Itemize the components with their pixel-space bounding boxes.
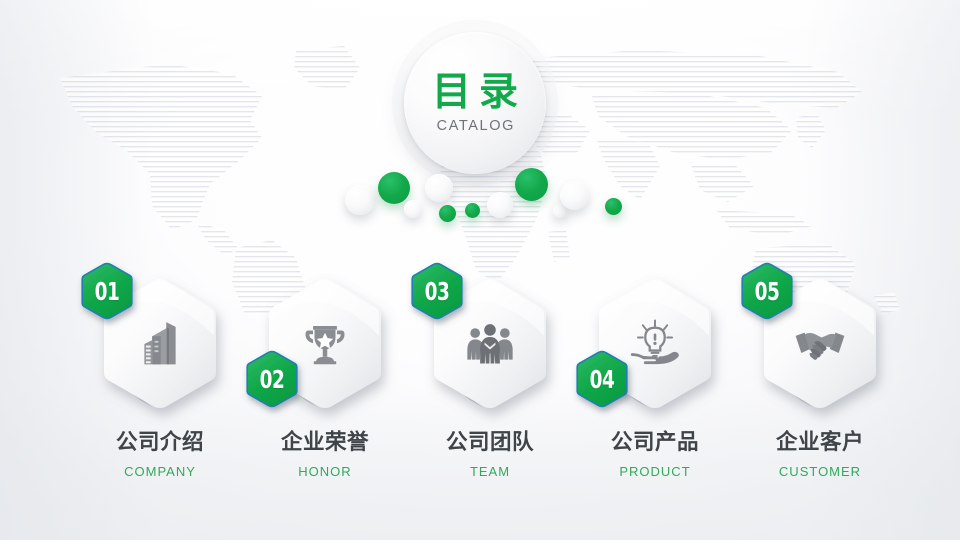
dot-green-4 [515, 168, 548, 201]
number-badge-03[interactable]: 03 [408, 262, 466, 320]
number-badge-05[interactable]: 05 [738, 262, 796, 320]
number-badge-02[interactable]: 02 [243, 350, 301, 408]
catalog-item-label-cn: 企业荣誉 [230, 430, 420, 456]
dot-white-6 [560, 181, 589, 210]
catalog-item-label-block: 公司团队TEAM [395, 430, 585, 479]
catalog-item-label-block: 公司产品PRODUCT [560, 430, 750, 479]
catalog-item-label-en: CUSTOMER [725, 464, 915, 479]
dot-green-2 [439, 205, 456, 222]
dot-white-1 [345, 185, 375, 215]
catalog-item-label-en: TEAM [395, 464, 585, 479]
catalog-item-label-block: 企业荣誉HONOR [230, 430, 420, 479]
number-badge-04[interactable]: 04 [573, 350, 631, 408]
catalog-item-label-cn: 公司介绍 [65, 430, 255, 456]
number-badge-label: 05 [743, 262, 791, 320]
slide-root: 目录 CATALOG [0, 0, 960, 540]
catalog-item-label-cn: 企业客户 [725, 430, 915, 456]
catalog-item-label-cn: 公司产品 [560, 430, 750, 456]
dot-white-3 [425, 174, 453, 202]
catalog-items-row: 01公司介绍COMPANY [0, 262, 960, 502]
page-title-en: CATALOG [435, 118, 515, 134]
dot-green-1 [378, 172, 410, 204]
number-badge-label: 02 [248, 350, 296, 408]
number-badge-label: 04 [578, 350, 626, 408]
number-badge-01[interactable]: 01 [78, 262, 136, 320]
catalog-item-label-block: 公司介绍COMPANY [65, 430, 255, 479]
catalog-item-04[interactable]: 04公司产品PRODUCT [560, 262, 750, 502]
catalog-item-label-en: HONOR [230, 464, 420, 479]
catalog-item-label-en: COMPANY [65, 464, 255, 479]
catalog-item-03[interactable]: 03公司团队TEAM [395, 262, 585, 502]
catalog-item-label-block: 企业客户CUSTOMER [725, 430, 915, 479]
dot-green-5 [605, 198, 622, 215]
catalog-item-02[interactable]: 02企业荣誉HONOR [230, 262, 420, 502]
number-badge-label: 03 [413, 262, 461, 320]
dot-white-4 [487, 192, 513, 218]
catalog-item-05[interactable]: 05企业客户CUSTOMER [725, 262, 915, 502]
dot-white-2 [404, 200, 422, 218]
page-title-cn: 目录 [424, 72, 526, 113]
catalog-title-circle: 目录 CATALOG [404, 32, 546, 174]
catalog-item-01[interactable]: 01公司介绍COMPANY [65, 262, 255, 502]
dot-green-3 [465, 203, 480, 218]
number-badge-label: 01 [83, 262, 131, 320]
catalog-item-label-cn: 公司团队 [395, 430, 585, 456]
catalog-item-label-en: PRODUCT [560, 464, 750, 479]
